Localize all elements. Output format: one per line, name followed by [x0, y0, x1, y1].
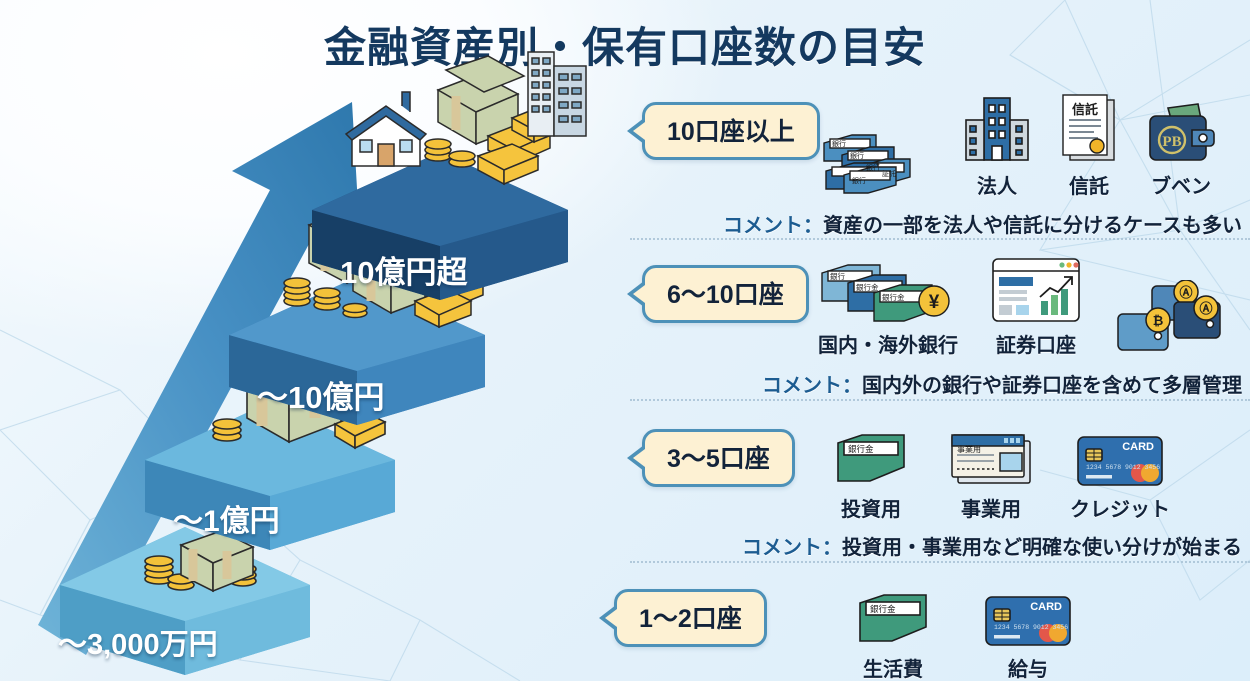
icon-label: 証券口座: [996, 329, 1076, 358]
stairs-diagram: ～3,000万円: [0, 70, 660, 681]
multi-bankbook-icon: 銀行 銀行金 銀行金 ¥: [818, 251, 958, 325]
bankbook-caption: 銀行: [852, 176, 866, 185]
trust-document-icon: 信託: [1058, 92, 1120, 166]
bankbook-stack-icon: 銀行 銀行 銀行 証託 銀行: [818, 121, 936, 195]
securities-chart-window-icon: [990, 251, 1082, 325]
icon-label: 国内・海外銀行: [818, 329, 958, 358]
comment-tier-3: コメント：国内外の銀行や証券口座を含めて多層管理: [762, 369, 1242, 398]
icon-label: 信託: [1069, 170, 1109, 199]
icon-cell-trust[interactable]: 信託 信託: [1058, 92, 1120, 199]
icon-label: ブベン: [1151, 170, 1211, 199]
checkbook-caption: 事業用: [957, 444, 981, 454]
crypto-symbol: Ⓐ: [1199, 301, 1212, 316]
icon-cell-salary[interactable]: CARD 1234 5678 9012 3456 給与: [982, 575, 1074, 681]
card-number: 1234 5678 9012 3456: [994, 624, 1068, 631]
icon-cell-living-cost[interactable]: 銀行金 生活費: [852, 575, 934, 681]
crypto-wallets-icon: ₿ Ⓐ Ⓐ: [1114, 280, 1222, 354]
comment-prefix: コメント：: [762, 375, 862, 397]
icon-cell-business[interactable]: 事業用 事業用: [948, 415, 1034, 522]
icon-cell-credit[interactable]: CARD 1234 5678 9012 3456 クレジット: [1070, 415, 1170, 522]
bankbook-caption: 銀行金: [870, 604, 896, 614]
icon-cell-bankbooks[interactable]: 銀行 銀行 銀行 証託 銀行: [818, 121, 936, 199]
credit-card-icon: CARD 1234 5678 9012 3456: [1074, 415, 1166, 489]
icon-cell-investment[interactable]: 銀行金 投資用: [830, 415, 912, 522]
icon-cell-crypto-wallets[interactable]: ₿ Ⓐ Ⓐ: [1114, 280, 1222, 358]
icon-label: クレジット: [1070, 493, 1170, 522]
page-title: 金融資産別・保有口座数の目安: [0, 14, 1250, 75]
trust-doc-text: 信託: [1072, 102, 1098, 117]
yen-symbol: ¥: [929, 292, 940, 313]
bubble-count-tier-2[interactable]: 3～5口座: [642, 429, 795, 487]
bankbook-caption: 銀行金: [882, 292, 905, 302]
card-brand-text: CARD: [1122, 441, 1154, 453]
card-brand-text: CARD: [1030, 601, 1062, 613]
icon-group-tier-1: 銀行金 生活費: [852, 575, 1074, 681]
bankbook-caption: 銀行: [866, 163, 880, 172]
row-divider: [630, 399, 1250, 401]
step-tier-4: 10億円超: [290, 150, 590, 300]
crypto-symbol: Ⓐ: [1179, 285, 1192, 300]
card-number: 1234 5678 9012 3456: [1086, 464, 1160, 471]
bankbook-caption: 銀行金: [856, 282, 879, 292]
bankbook-caption: 銀行: [832, 139, 846, 148]
comment-text: 国内外の銀行や証券口座を含めて多層管理: [862, 375, 1242, 397]
icon-label: 法人: [977, 170, 1017, 199]
investment-bankbook-icon: 銀行金: [830, 415, 912, 489]
icon-label: 生活費: [863, 653, 923, 681]
icon-group-tier-4: 銀行 銀行 銀行 証託 銀行: [818, 92, 1216, 199]
comment-tier-4: コメント：資産の一部を法人や信託に分けるケースも多い: [723, 209, 1242, 238]
icon-label: 給与: [1008, 653, 1048, 681]
comment-tier-2: コメント：投資用・事業用など明確な使い分けが始まる: [742, 531, 1242, 560]
bubble-count-tier-3[interactable]: 6～10口座: [642, 265, 809, 323]
comment-text: 資産の一部を法人や信託に分けるケースも多い: [823, 215, 1242, 237]
comment-text: 投資用・事業用など明確な使い分けが始まる: [842, 537, 1242, 559]
row-divider: [630, 238, 1250, 240]
row-divider: [630, 561, 1250, 563]
icon-group-tier-2: 銀行金 投資用: [830, 415, 1170, 522]
icon-cell-corporate[interactable]: 法人: [962, 92, 1032, 199]
icon-group-tier-3: 銀行 銀行金 銀行金 ¥ 国内・海外銀行: [818, 251, 1222, 358]
icon-label: 事業用: [961, 493, 1021, 522]
house-icon: [346, 92, 426, 166]
crypto-symbol: ₿: [1153, 313, 1164, 328]
private-bank-wallet-icon: PB: [1146, 92, 1216, 166]
infographic-canvas: 金融資産別・保有口座数の目安: [0, 0, 1250, 681]
trustbook-caption: 証託: [882, 169, 896, 178]
bankbook-caption: 銀行金: [848, 444, 874, 454]
corporate-building-icon: [962, 92, 1032, 166]
bankbook-caption: 銀行: [830, 271, 845, 281]
icon-cell-securities[interactable]: 証券口座: [990, 251, 1082, 358]
bubble-count-tier-1[interactable]: 1～2口座: [614, 589, 767, 647]
salary-card-icon: CARD 1234 5678 9012 3456: [982, 575, 1074, 649]
bankbook-caption: 銀行: [850, 151, 864, 160]
comment-prefix: コメント：: [723, 215, 823, 237]
bubble-count-tier-4[interactable]: 10口座以上: [642, 102, 820, 160]
icon-label: 投資用: [841, 493, 901, 522]
living-cost-bankbook-icon: 銀行金: [852, 575, 934, 649]
comment-prefix: コメント：: [742, 537, 842, 559]
icon-cell-private-bank[interactable]: PB ブベン: [1146, 92, 1216, 199]
business-checkbook-icon: 事業用: [948, 415, 1034, 489]
account-rows: 10口座以上: [600, 76, 1250, 676]
icon-cell-domestic-overseas-bank[interactable]: 銀行 銀行金 銀行金 ¥ 国内・海外銀行: [818, 251, 958, 358]
wallet-monogram: PB: [1162, 134, 1181, 150]
